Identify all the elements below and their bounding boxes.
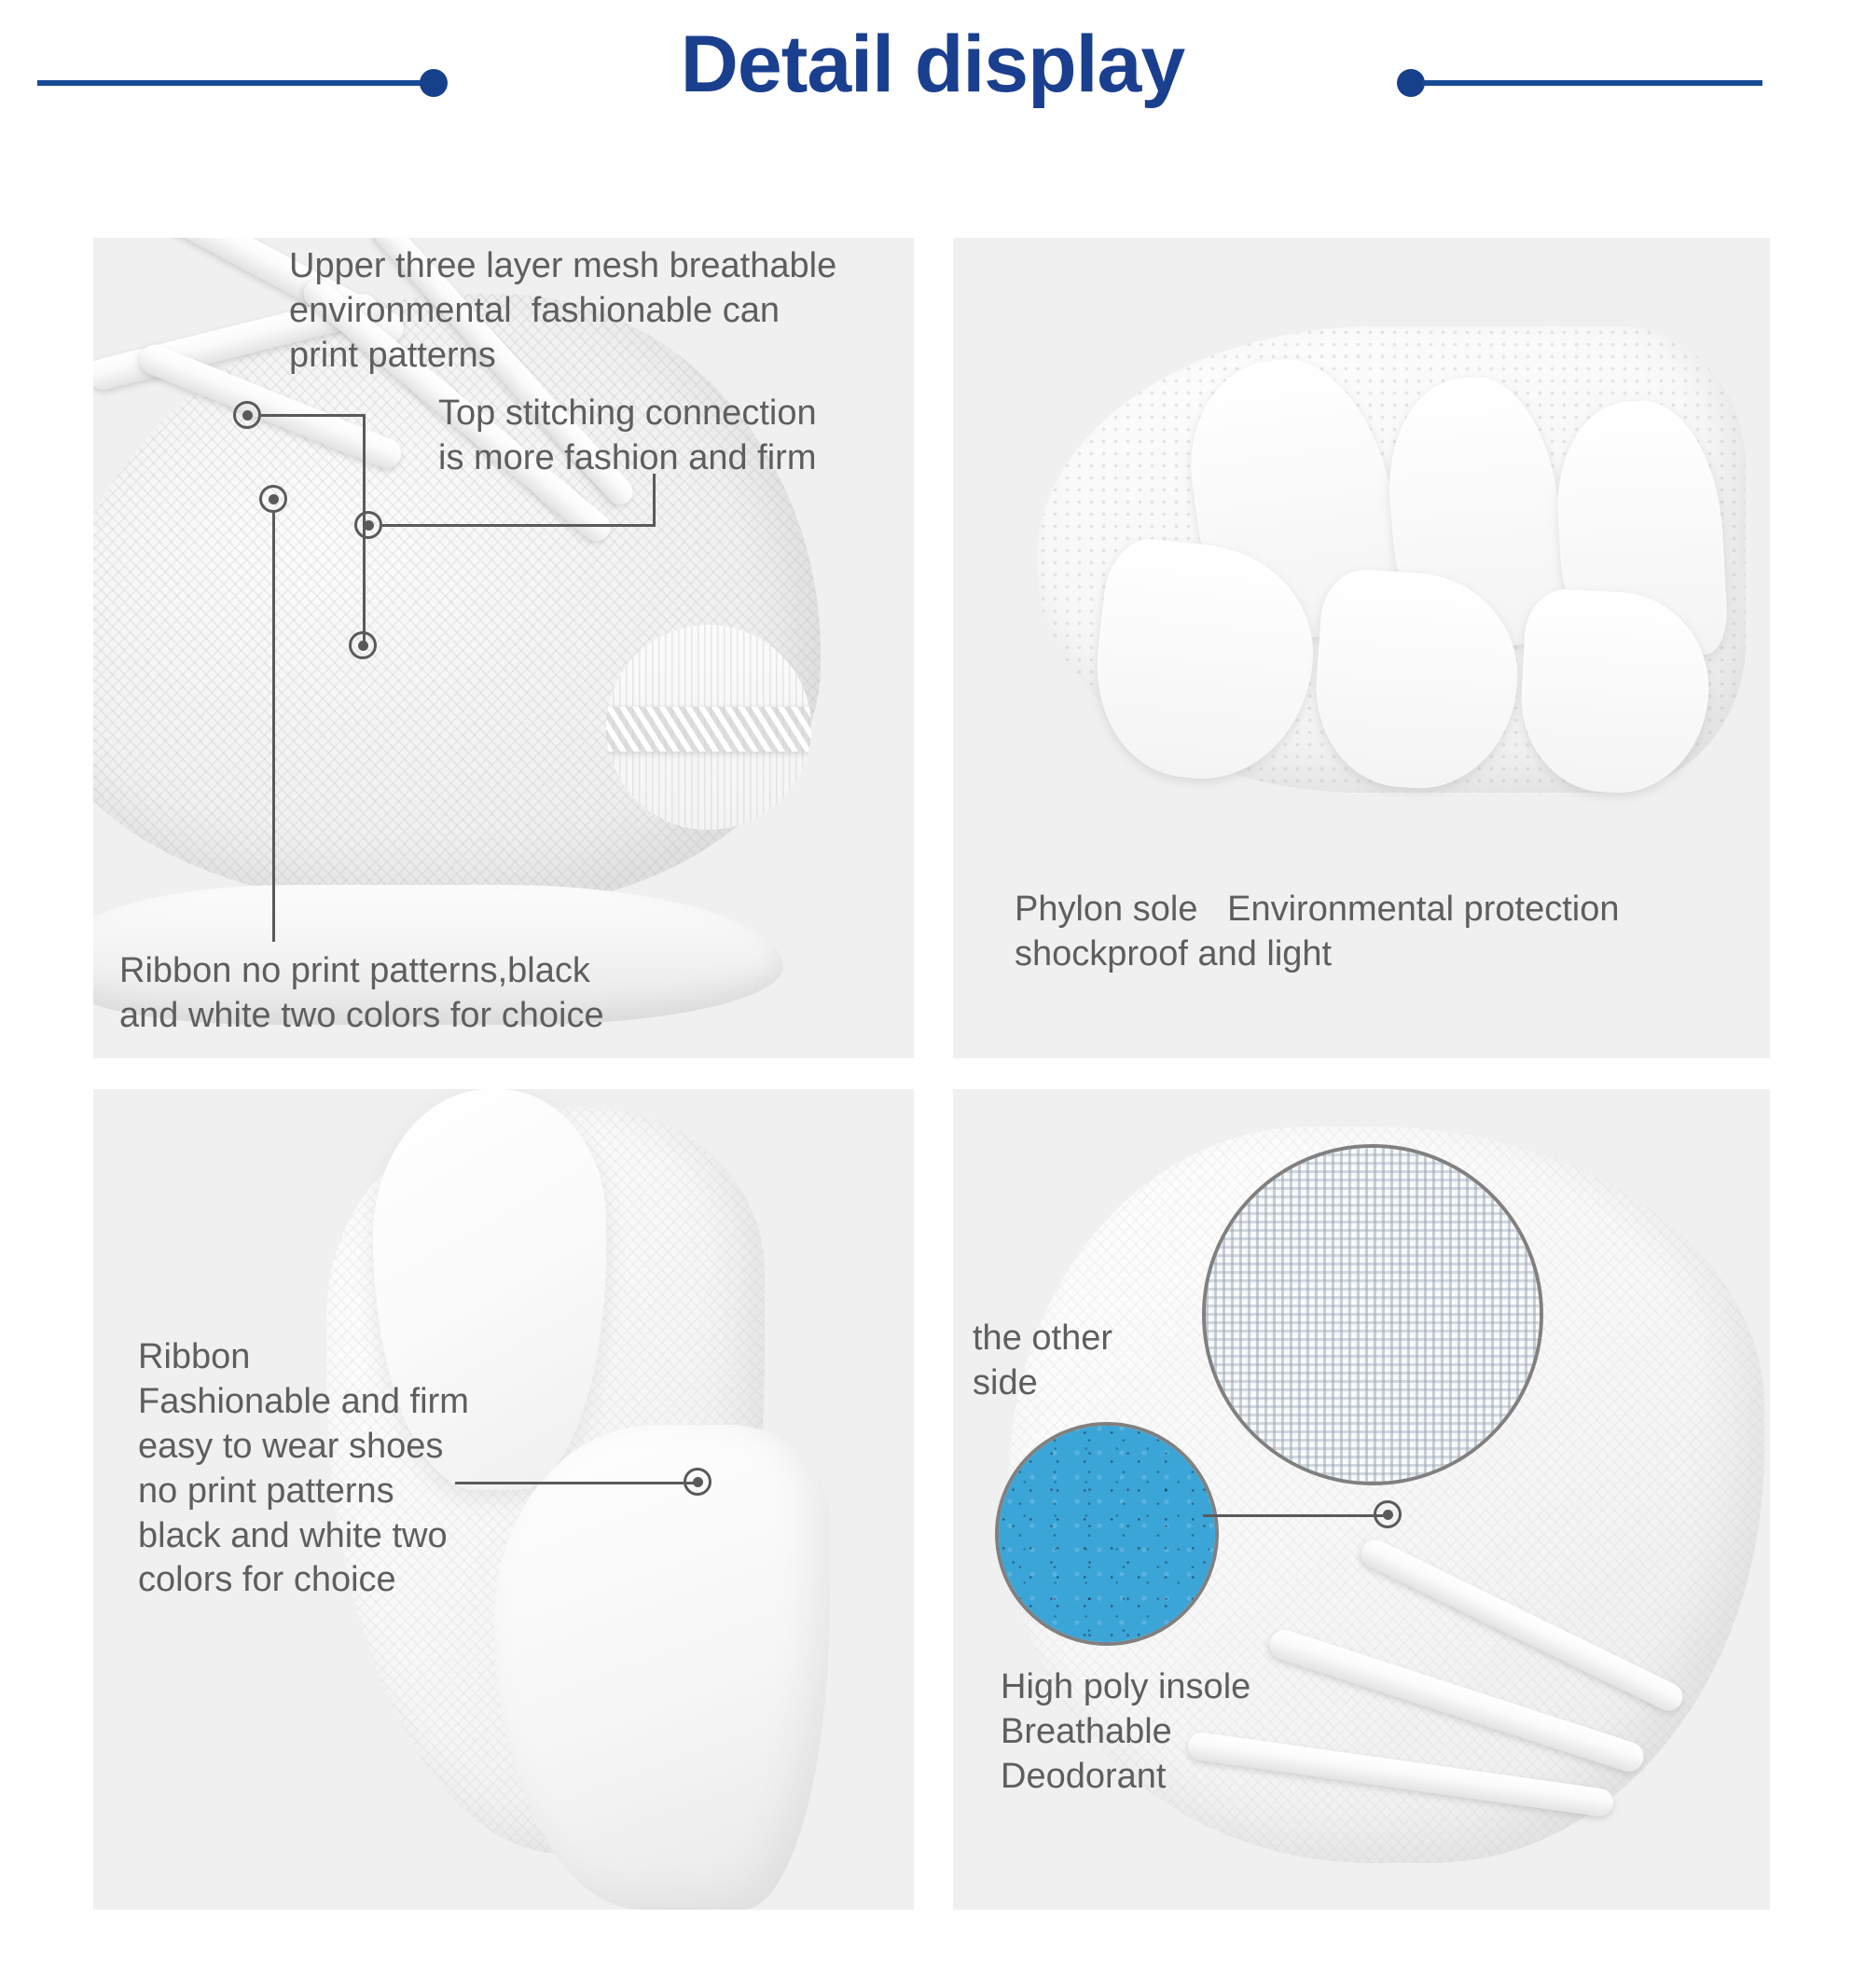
leader-line-ribbon-upper (272, 513, 275, 942)
callout-other-side: the other side (973, 1317, 1168, 1406)
page-header: Detail display (0, 0, 1865, 168)
callout-top-stitching: Top stitching connection is more fashion… (438, 392, 923, 481)
callout-upper-mesh: Upper three layer mesh breathable enviro… (289, 244, 905, 379)
leader-line-top-stitching-rise (653, 474, 656, 526)
callout-marker-upper-mesh-end[interactable] (349, 631, 377, 659)
zoom-circle-stitching (606, 625, 811, 830)
header-rule-right (1422, 80, 1762, 86)
callout-ribbon-collar: Ribbon Fashionable and firm easy to wear… (138, 1335, 576, 1603)
callout-marker-blue-insole[interactable] (1374, 1500, 1402, 1528)
callout-marker-top-stitching[interactable] (354, 511, 382, 539)
stitch-texture (606, 625, 811, 830)
leader-line-upper-mesh (261, 414, 366, 417)
leader-line-top-stitching (382, 524, 656, 527)
callout-marker-ribbon-collar[interactable] (684, 1468, 711, 1496)
zoom-circle-knit-mesh (1202, 1144, 1543, 1485)
leader-line-blue-insole (1203, 1514, 1385, 1517)
callout-marker-ribbon-upper[interactable] (259, 485, 287, 513)
blue-foam-texture (999, 1426, 1215, 1642)
header-dot-right (1397, 69, 1425, 97)
callout-marker-upper-mesh[interactable] (233, 401, 261, 429)
callout-high-poly-insole: High poly insole Breathable Deodorant (1001, 1665, 1392, 1800)
knit-mesh-texture (1206, 1148, 1540, 1482)
callout-phylon-sole: Phylon sole Environmental protection sho… (1015, 888, 1751, 977)
callout-ribbon-upper: Ribbon no print patterns,black and white… (119, 949, 772, 1039)
zoom-circle-blue-insole (995, 1422, 1219, 1646)
page-title: Detail display (0, 19, 1865, 111)
